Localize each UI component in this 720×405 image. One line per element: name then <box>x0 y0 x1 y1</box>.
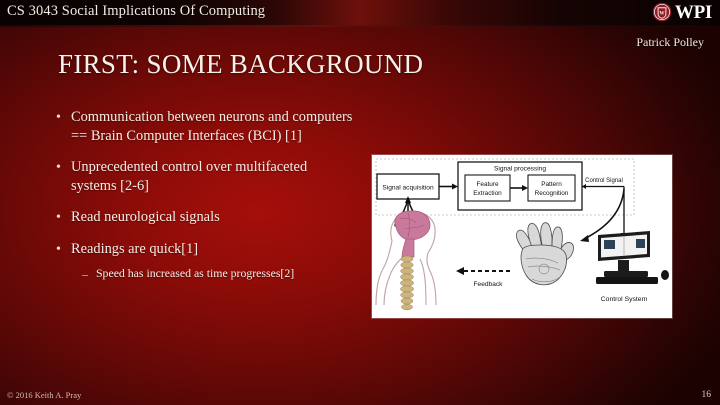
svg-text:W: W <box>659 10 665 16</box>
bullet-item: • Read neurological signals <box>56 208 356 227</box>
figure-label-signal-acquisition: Signal acquisition <box>382 185 434 192</box>
bullet-list: • Communication between neurons and comp… <box>56 108 356 290</box>
figure-label-feature-extraction-line2: Extraction <box>473 190 502 197</box>
copyright-notice: © 2016 Keith A. Pray <box>7 390 81 400</box>
slide-number: 16 <box>702 390 712 400</box>
figure-label-pattern-recognition-line1: Pattern <box>541 181 562 188</box>
bullet-marker-icon: • <box>56 158 71 177</box>
figure-label-feedback: Feedback <box>474 281 504 288</box>
wpi-logo: W WPI <box>652 2 712 22</box>
bullet-text: Read neurological signals <box>71 208 356 227</box>
bullet-marker-icon: • <box>56 208 71 227</box>
slide-header-bar: CS 3043 Social Implications Of Computing <box>0 0 720 25</box>
figure-label-feature-extraction-line1: Feature <box>476 181 498 188</box>
figure-label-control-system: Control System <box>601 296 648 303</box>
presentation-slide: CS 3043 Social Implications Of Computing… <box>0 0 720 405</box>
figure-label-pattern-recognition-line2: Recognition <box>535 190 569 197</box>
bullet-marker-icon: • <box>56 240 71 259</box>
sub-bullet-text: Speed has increased as time progresses[2… <box>96 266 356 281</box>
bci-system-diagram: Signal acquisition Signal processing Fea… <box>372 155 672 318</box>
presenter-name: Patrick Polley <box>636 35 704 50</box>
bullet-text: Readings are quick[1] <box>71 240 356 259</box>
sub-bullet-item: – Speed has increased as time progresses… <box>82 266 356 282</box>
sub-bullet-marker-icon: – <box>82 266 96 282</box>
bullet-item: • Unprecedented control over multifacete… <box>56 158 356 195</box>
wpi-seal-icon: W <box>652 2 672 22</box>
bullet-item: • Readings are quick[1] <box>56 240 356 259</box>
figure-label-control-signal: Control Signal <box>585 178 623 184</box>
bullet-text: Unprecedented control over multifaceted … <box>71 158 356 195</box>
bullet-marker-icon: • <box>56 108 71 127</box>
bullet-item: • Communication between neurons and comp… <box>56 108 356 145</box>
figure-label-signal-processing: Signal processing <box>494 166 546 173</box>
header-divider <box>0 25 720 27</box>
course-title: CS 3043 Social Implications Of Computing <box>7 3 265 20</box>
wpi-wordmark: WPI <box>675 3 712 22</box>
bullet-text: Communication between neurons and comput… <box>71 108 356 145</box>
slide-title: FIRST: SOME BACKGROUND <box>58 48 423 80</box>
